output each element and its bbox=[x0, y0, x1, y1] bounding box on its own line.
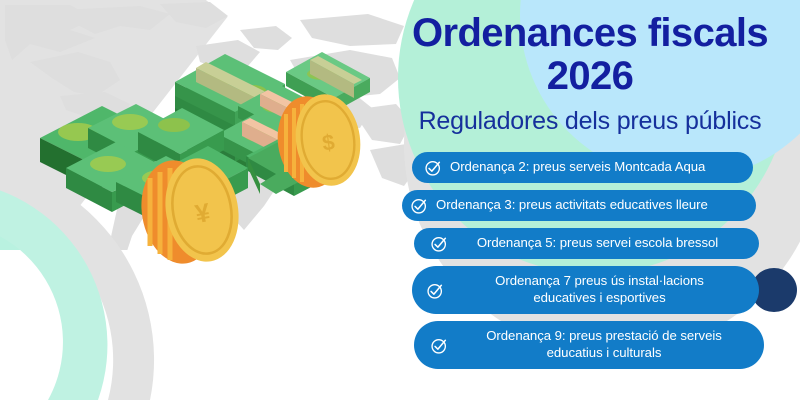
ordinance-label: Ordenança 5: preus servei escola bressol bbox=[456, 235, 747, 252]
page-title: Ordenances fiscals 2026 bbox=[390, 12, 790, 98]
list-item[interactable]: Ordenança 7 preus ús instal·lacions educ… bbox=[395, 266, 795, 314]
check-circle-icon bbox=[424, 158, 443, 177]
ordinance-pill-9[interactable]: Ordenança 9: preus prestació de serveis … bbox=[414, 321, 764, 369]
money-illustration: $ ¥ bbox=[10, 10, 390, 300]
ordinance-list: Ordenança 2: preus serveis Montcada Aqua… bbox=[395, 152, 795, 376]
ordinance-pill-2[interactable]: Ordenança 2: preus serveis Montcada Aqua bbox=[412, 152, 753, 183]
page-subtitle: Reguladores dels preus públics bbox=[390, 107, 790, 136]
ordinance-label: Ordenança 2: preus serveis Montcada Aqua bbox=[450, 159, 741, 176]
headline-block: Ordenances fiscals 2026 Reguladores dels… bbox=[390, 12, 790, 136]
ordinance-pill-7[interactable]: Ordenança 7 preus ús instal·lacions educ… bbox=[412, 266, 759, 314]
ordinance-label: Ordenança 9: preus prestació de serveis … bbox=[456, 328, 752, 362]
check-circle-icon bbox=[430, 234, 449, 253]
ordinance-pill-3[interactable]: Ordenança 3: preus activitats educatives… bbox=[402, 190, 756, 221]
check-circle-icon bbox=[426, 281, 445, 300]
ordinance-label: Ordenança 7 preus ús instal·lacions educ… bbox=[452, 273, 747, 307]
list-item[interactable]: Ordenança 2: preus serveis Montcada Aqua bbox=[395, 152, 795, 183]
list-item[interactable]: Ordenança 9: preus prestació de serveis … bbox=[395, 321, 795, 369]
list-item[interactable]: Ordenança 3: preus activitats educatives… bbox=[395, 190, 795, 221]
check-circle-icon bbox=[430, 336, 449, 355]
list-item[interactable]: Ordenança 5: preus servei escola bressol bbox=[395, 228, 795, 259]
ordinance-label: Ordenança 3: preus activitats educatives… bbox=[436, 197, 744, 214]
infographic-canvas: $ ¥ Ordenances fiscals 2026 Reguladores … bbox=[0, 0, 800, 400]
ordinance-pill-5[interactable]: Ordenança 5: preus servei escola bressol bbox=[414, 228, 759, 259]
check-circle-icon bbox=[410, 196, 429, 215]
